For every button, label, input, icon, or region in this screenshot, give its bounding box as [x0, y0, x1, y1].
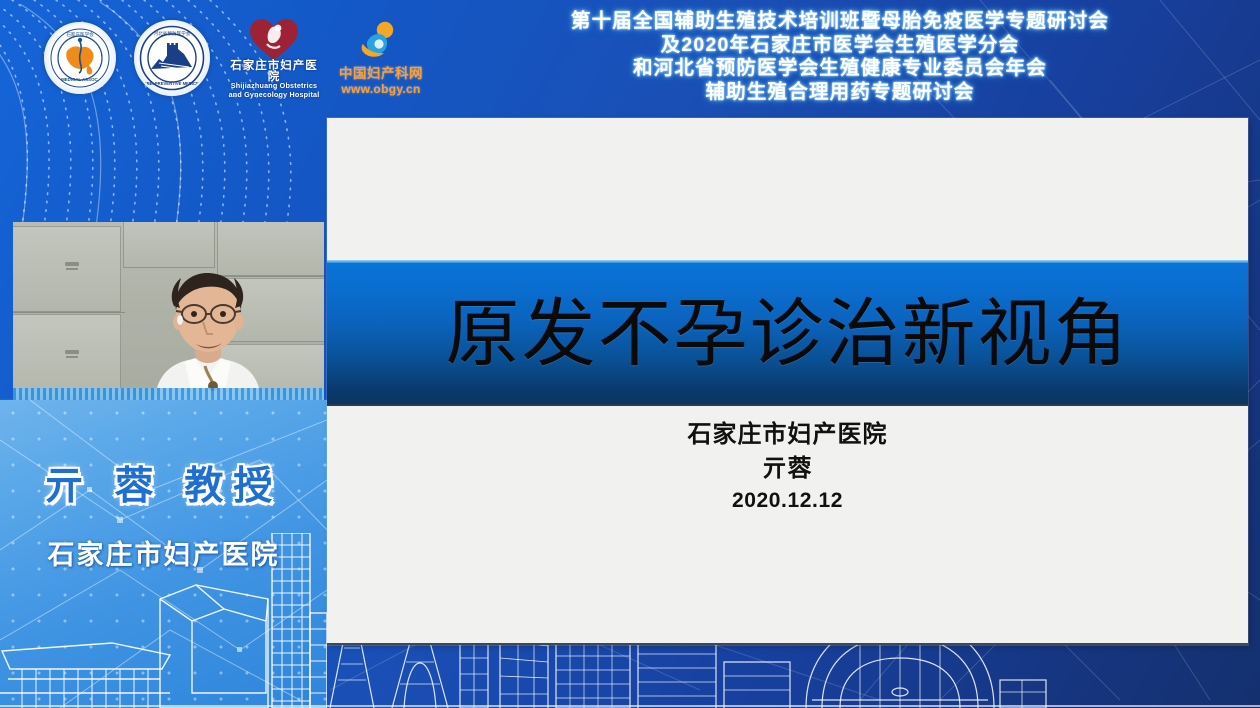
shijiazhuang-medical-association-logo: MEDICAL ASSOC. 石家庄医学会 [44, 22, 116, 94]
event-title-banner: 第十届全国辅助生殖技术培训班暨母胎免疫医学专题研讨会 及2020年石家庄市医学会… [430, 10, 1250, 104]
medical-association-seal-icon: MEDICAL ASSOC. 石家庄医学会 [47, 25, 113, 91]
cabinet-handle [65, 262, 79, 266]
speaker-info: 亓 蓉 教授 石家庄市妇产医院 [0, 455, 327, 572]
speaker-name: 亓 蓉 教授 [0, 455, 327, 511]
obgyn-hospital-name-en: Shijiazhuang Obstetrics and Gynecology H… [228, 82, 320, 99]
great-wall-seal-icon: 河北省预防医学会 HEBEI PREVENTIVE MEDICINE [137, 23, 207, 93]
obgy-cn-name: 中国妇产科网 [339, 62, 423, 82]
speaker-organization: 石家庄市妇产医院 [0, 533, 327, 572]
slide-subtitle-block: 石家庄市妇产医院 亓蓉 2020.12.12 [327, 418, 1248, 516]
cabinet-handle [65, 350, 79, 354]
slide-title: 原发不孕诊治新视角 [446, 297, 1130, 371]
event-title-line-4: 辅助生殖合理用药专题研讨会 [430, 81, 1250, 105]
svg-text:河北省预防医学会: 河北省预防医学会 [154, 30, 191, 37]
speaker-portrait [133, 262, 283, 400]
svg-text:MEDICAL ASSOC.: MEDICAL ASSOC. [61, 77, 99, 82]
obgy-figure-icon [357, 20, 405, 62]
slide-bottom-border [327, 643, 1248, 645]
obgyn-hospital-name-cn: 石家庄市妇产医院 [228, 61, 320, 82]
slide-subtitle-date: 2020.12.12 [327, 486, 1248, 516]
heart-mother-child-icon [247, 17, 301, 61]
obgy-cn-url: www.obgy.cn [341, 82, 420, 96]
slide-top-area [327, 118, 1248, 260]
event-title-line-1: 第十届全国辅助生殖技术培训班暨母胎免疫医学专题研讨会 [430, 10, 1250, 34]
hebei-preventive-medicine-association-logo: 河北省预防医学会 HEBEI PREVENTIVE MEDICINE [134, 20, 210, 96]
presentation-slide[interactable]: 原发不孕诊治新视角 石家庄市妇产医院 亓蓉 2020.12.12 [327, 118, 1248, 645]
obgy-cn-logo: 中国妇产科网 www.obgy.cn [338, 20, 424, 96]
svg-text:HEBEI PREVENTIVE MEDICINE: HEBEI PREVENTIVE MEDICINE [141, 81, 203, 86]
slide-subtitle-author: 亓蓉 [327, 452, 1248, 486]
event-title-line-2: 及2020年石家庄市医学会生殖医学分会 [430, 34, 1250, 58]
sponsor-logo-row: MEDICAL ASSOC. 石家庄医学会 [44, 12, 424, 104]
slide-subtitle-organization: 石家庄市妇产医院 [327, 418, 1248, 452]
cabinet-panel [13, 226, 121, 312]
broadcast-screen: 第十届全国辅助生殖技术培训班暨母胎免疫医学专题研讨会 及2020年石家庄市医学会… [0, 0, 1260, 708]
event-title-line-3: 和河北省预防医学会生殖健康专业委员会年会 [430, 57, 1250, 81]
obgyn-hospital-label: 石家庄市妇产医院 Shijiazhuang Obstetrics and Gyn… [228, 61, 320, 99]
slide-title-band: 原发不孕诊治新视角 [327, 263, 1248, 404]
slide-title-band-underline [327, 404, 1248, 406]
shijiazhuang-obgyn-hospital-logo: 石家庄市妇产医院 Shijiazhuang Obstetrics and Gyn… [228, 17, 320, 99]
speaker-video-feed[interactable] [13, 222, 324, 400]
svg-text:石家庄医学会: 石家庄医学会 [66, 31, 94, 38]
cabinet-seam [13, 312, 125, 313]
